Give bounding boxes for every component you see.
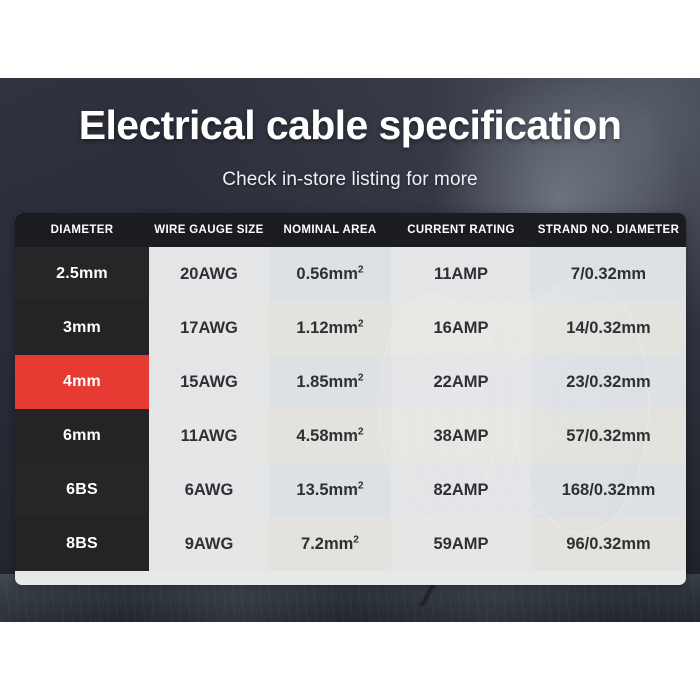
table-row[interactable]: 2.5mm 20AWG 0.56mm2 11AMP 7/0.32mm bbox=[15, 247, 686, 301]
nominal-area-value: 7.2mm bbox=[301, 535, 353, 553]
product-spec-banner: Electrical cable specification Check in-… bbox=[0, 0, 700, 700]
table-row-highlighted[interactable]: 4mm 15AWG 1.85mm2 22AMP 23/0.32mm bbox=[15, 355, 686, 409]
table-header: DIAMETER WIRE GAUGE SIZE NOMINAL AREA CU… bbox=[15, 213, 686, 247]
cell-strand-no-diameter: 23/0.32mm bbox=[531, 355, 686, 409]
cell-wire-gauge-size: 11AWG bbox=[149, 409, 269, 463]
nominal-area-value: 13.5mm bbox=[296, 481, 357, 499]
cell-nominal-area: 7.2mm2 bbox=[269, 517, 391, 571]
column-header-wire-gauge-size: WIRE GAUGE SIZE bbox=[149, 213, 269, 247]
cell-strand-no-diameter: 168/0.32mm bbox=[531, 463, 686, 517]
nominal-area-superscript: 2 bbox=[358, 480, 364, 491]
cell-wire-gauge-size: 9AWG bbox=[149, 517, 269, 571]
cell-nominal-area: 4.58mm2 bbox=[269, 409, 391, 463]
cell-current-rating: 38AMP bbox=[391, 409, 531, 463]
table-row[interactable]: 3mm 17AWG 1.12mm2 16AMP 14/0.32mm bbox=[15, 301, 686, 355]
cell-wire-gauge-size: 15AWG bbox=[149, 355, 269, 409]
cell-diameter: 8BS bbox=[15, 517, 149, 571]
cell-current-rating: 22AMP bbox=[391, 355, 531, 409]
table-row[interactable]: 6BS 6AWG 13.5mm2 82AMP 168/0.32mm bbox=[15, 463, 686, 517]
nominal-area-value: 0.56mm bbox=[296, 265, 357, 283]
cell-strand-no-diameter: 7/0.32mm bbox=[531, 247, 686, 301]
page-subtitle: Check in-store listing for more bbox=[0, 169, 700, 191]
spec-table-container: DIAMETER WIRE GAUGE SIZE NOMINAL AREA CU… bbox=[15, 213, 686, 585]
cell-wire-gauge-size: 17AWG bbox=[149, 301, 269, 355]
cell-strand-no-diameter: 14/0.32mm bbox=[531, 301, 686, 355]
cell-current-rating: 59AMP bbox=[391, 517, 531, 571]
cell-diameter: 4mm bbox=[15, 355, 149, 409]
column-header-nominal-area: NOMINAL AREA bbox=[269, 213, 391, 247]
column-header-current-rating: CURRENT RATING bbox=[391, 213, 531, 247]
cell-wire-gauge-size: 6AWG bbox=[149, 463, 269, 517]
cell-current-rating: 16AMP bbox=[391, 301, 531, 355]
cell-nominal-area: 13.5mm2 bbox=[269, 463, 391, 517]
cell-wire-gauge-size: 20AWG bbox=[149, 247, 269, 301]
cell-diameter: 3mm bbox=[15, 301, 149, 355]
cell-nominal-area: 0.56mm2 bbox=[269, 247, 391, 301]
table-body: 2.5mm 20AWG 0.56mm2 11AMP 7/0.32mm 3mm 1… bbox=[15, 247, 686, 571]
nominal-area-superscript: 2 bbox=[358, 318, 364, 329]
nominal-area-superscript: 2 bbox=[358, 264, 364, 275]
cell-nominal-area: 1.85mm2 bbox=[269, 355, 391, 409]
cell-current-rating: 11AMP bbox=[391, 247, 531, 301]
column-header-strand-no-diameter: STRAND NO. DIAMETER bbox=[531, 213, 686, 247]
nominal-area-value: 1.85mm bbox=[296, 373, 357, 391]
cell-diameter: 2.5mm bbox=[15, 247, 149, 301]
nominal-area-value: 4.58mm bbox=[296, 427, 357, 445]
table-row[interactable]: 8BS 9AWG 7.2mm2 59AMP 96/0.32mm bbox=[15, 517, 686, 571]
column-header-diameter: DIAMETER bbox=[15, 213, 149, 247]
cell-strand-no-diameter: 96/0.32mm bbox=[531, 517, 686, 571]
page-title: Electrical cable specification bbox=[0, 104, 700, 147]
spec-table: DIAMETER WIRE GAUGE SIZE NOMINAL AREA CU… bbox=[15, 213, 686, 571]
table-header-row: DIAMETER WIRE GAUGE SIZE NOMINAL AREA CU… bbox=[15, 213, 686, 247]
cell-diameter: 6BS bbox=[15, 463, 149, 517]
nominal-area-superscript: 2 bbox=[358, 426, 364, 437]
cell-strand-no-diameter: 57/0.32mm bbox=[531, 409, 686, 463]
nominal-area-value: 1.12mm bbox=[296, 319, 357, 337]
cell-current-rating: 82AMP bbox=[391, 463, 531, 517]
nominal-area-superscript: 2 bbox=[353, 534, 359, 545]
nominal-area-superscript: 2 bbox=[358, 372, 364, 383]
cell-nominal-area: 1.12mm2 bbox=[269, 301, 391, 355]
cell-diameter: 6mm bbox=[15, 409, 149, 463]
table-row[interactable]: 6mm 11AWG 4.58mm2 38AMP 57/0.32mm bbox=[15, 409, 686, 463]
